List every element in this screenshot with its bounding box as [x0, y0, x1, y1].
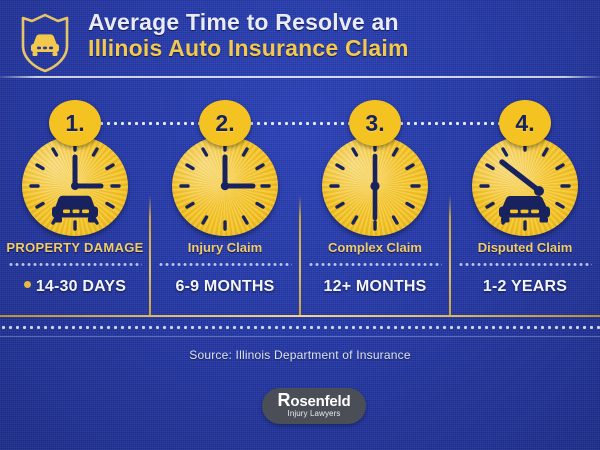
label-divider-dots-1 [8, 263, 142, 266]
step-label-3: Complex Claim [300, 240, 450, 255]
car-front-glyph [52, 196, 98, 223]
header: Average Time to Resolve an Illinois Auto… [0, 0, 600, 78]
step-column-2: 2. Injury Claim 6-9 MONTHS [150, 100, 300, 330]
step-badge-1: 1. [49, 100, 101, 146]
title-line-2: Illinois Auto Insurance Claim [88, 35, 588, 62]
step-value-4: 1-2 YEARS [450, 278, 600, 296]
step-value-2: 6-9 MONTHS [150, 278, 300, 296]
title-line-1: Average Time to Resolve an [88, 9, 588, 35]
shield-car-icon [14, 12, 76, 74]
logo-name-rest: osenfeld [290, 394, 350, 409]
step-label-2: Injury Claim [150, 240, 300, 255]
logo-name: Rosenfeld [278, 393, 351, 409]
step-badge-4: 4. [499, 100, 551, 146]
source-text: Source: Illinois Department of Insurance [0, 348, 600, 362]
logo-tagline: Injury Lawyers [288, 409, 341, 419]
car-side-glyph [499, 196, 550, 223]
column-divider-3 [449, 195, 451, 317]
step-badge-2: 2. [199, 100, 251, 146]
header-divider [0, 76, 600, 78]
clock-with-car-front-icon [22, 136, 128, 236]
label-divider-dots-3 [308, 263, 442, 266]
step-label-4: Disputed Claim [450, 240, 600, 255]
value-bullet-1 [24, 281, 31, 288]
step-value-3: 12+ MONTHS [300, 278, 450, 296]
grid-bottom-rule [0, 315, 600, 317]
step-column-3: 3. Complex Claim 12+ MONTHS [300, 100, 450, 330]
step-column-1: 1. PROPERTY DAMAGE 14-30 DAYS [0, 100, 150, 330]
infographic-canvas: Average Time to Resolve an Illinois Auto… [0, 0, 600, 450]
step-value-1: 14-30 DAYS [0, 278, 150, 296]
footer-dots [0, 326, 600, 329]
clock-icon [172, 136, 278, 236]
clock-icon [322, 136, 428, 236]
clock-with-car-side-icon [472, 136, 578, 236]
footer-thin-rule [0, 336, 600, 337]
logo-initial: R [278, 393, 291, 408]
column-divider-1 [149, 195, 151, 317]
rosenfeld-logo[interactable]: Rosenfeld Injury Lawyers [262, 388, 366, 424]
step-column-4: 4. Disputed Claim 1-2 YEARS [450, 100, 600, 330]
column-divider-2 [299, 195, 301, 317]
step-badge-3: 3. [349, 100, 401, 146]
page-title: Average Time to Resolve an Illinois Auto… [88, 9, 588, 62]
label-divider-dots-2 [158, 263, 292, 266]
step-label-1: PROPERTY DAMAGE [0, 240, 150, 255]
label-divider-dots-4 [458, 263, 592, 266]
step-value-1-text: 14-30 DAYS [36, 278, 126, 295]
